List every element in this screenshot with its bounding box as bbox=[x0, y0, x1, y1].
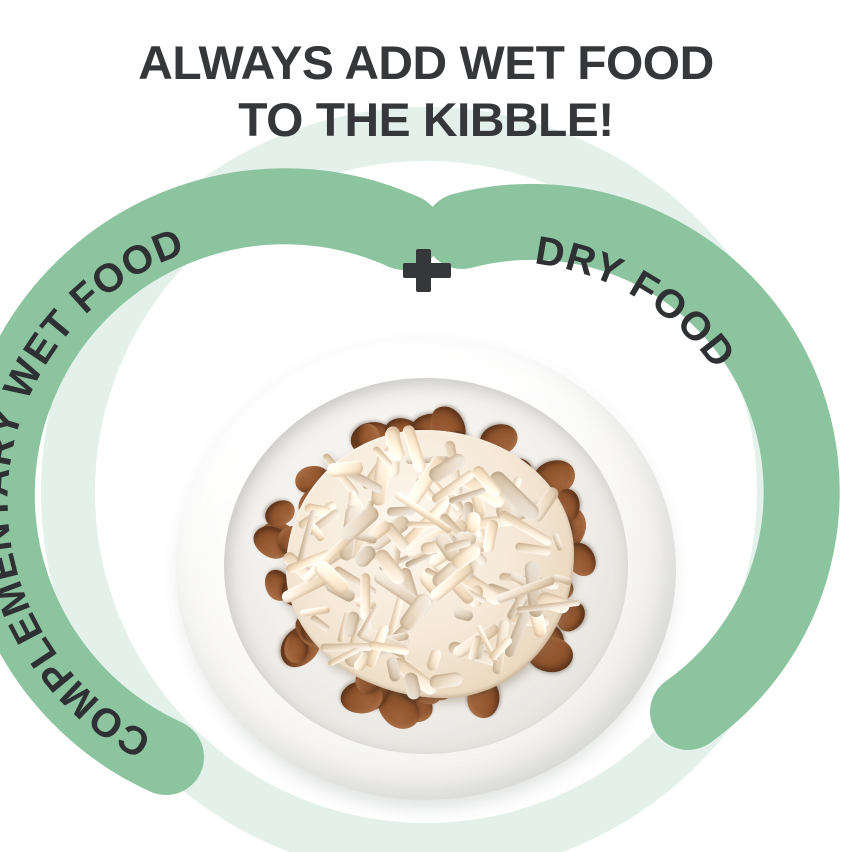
wet-food-shred bbox=[320, 643, 372, 652]
plus-symbol-text: + bbox=[400, 243, 401, 244]
headline-line-1: ALWAYS ADD WET FOOD bbox=[0, 34, 852, 91]
plus-icon: + bbox=[400, 243, 454, 297]
food-bowl-image: White ceramic bowl filled with brown dry… bbox=[176, 338, 676, 810]
bowl-alt-text: White ceramic bowl filled with brown dry… bbox=[176, 338, 177, 339]
headline-line-2: TO THE KIBBLE! bbox=[0, 91, 852, 148]
wet-food-layer bbox=[280, 420, 580, 708]
page-title: ALWAYS ADD WET FOOD TO THE KIBBLE! bbox=[0, 34, 852, 149]
plus-vertical-bar bbox=[416, 249, 431, 292]
infographic-canvas: ALWAYS ADD WET FOOD TO THE KIBBLE! bbox=[0, 0, 852, 852]
bowl-interior bbox=[224, 378, 628, 754]
